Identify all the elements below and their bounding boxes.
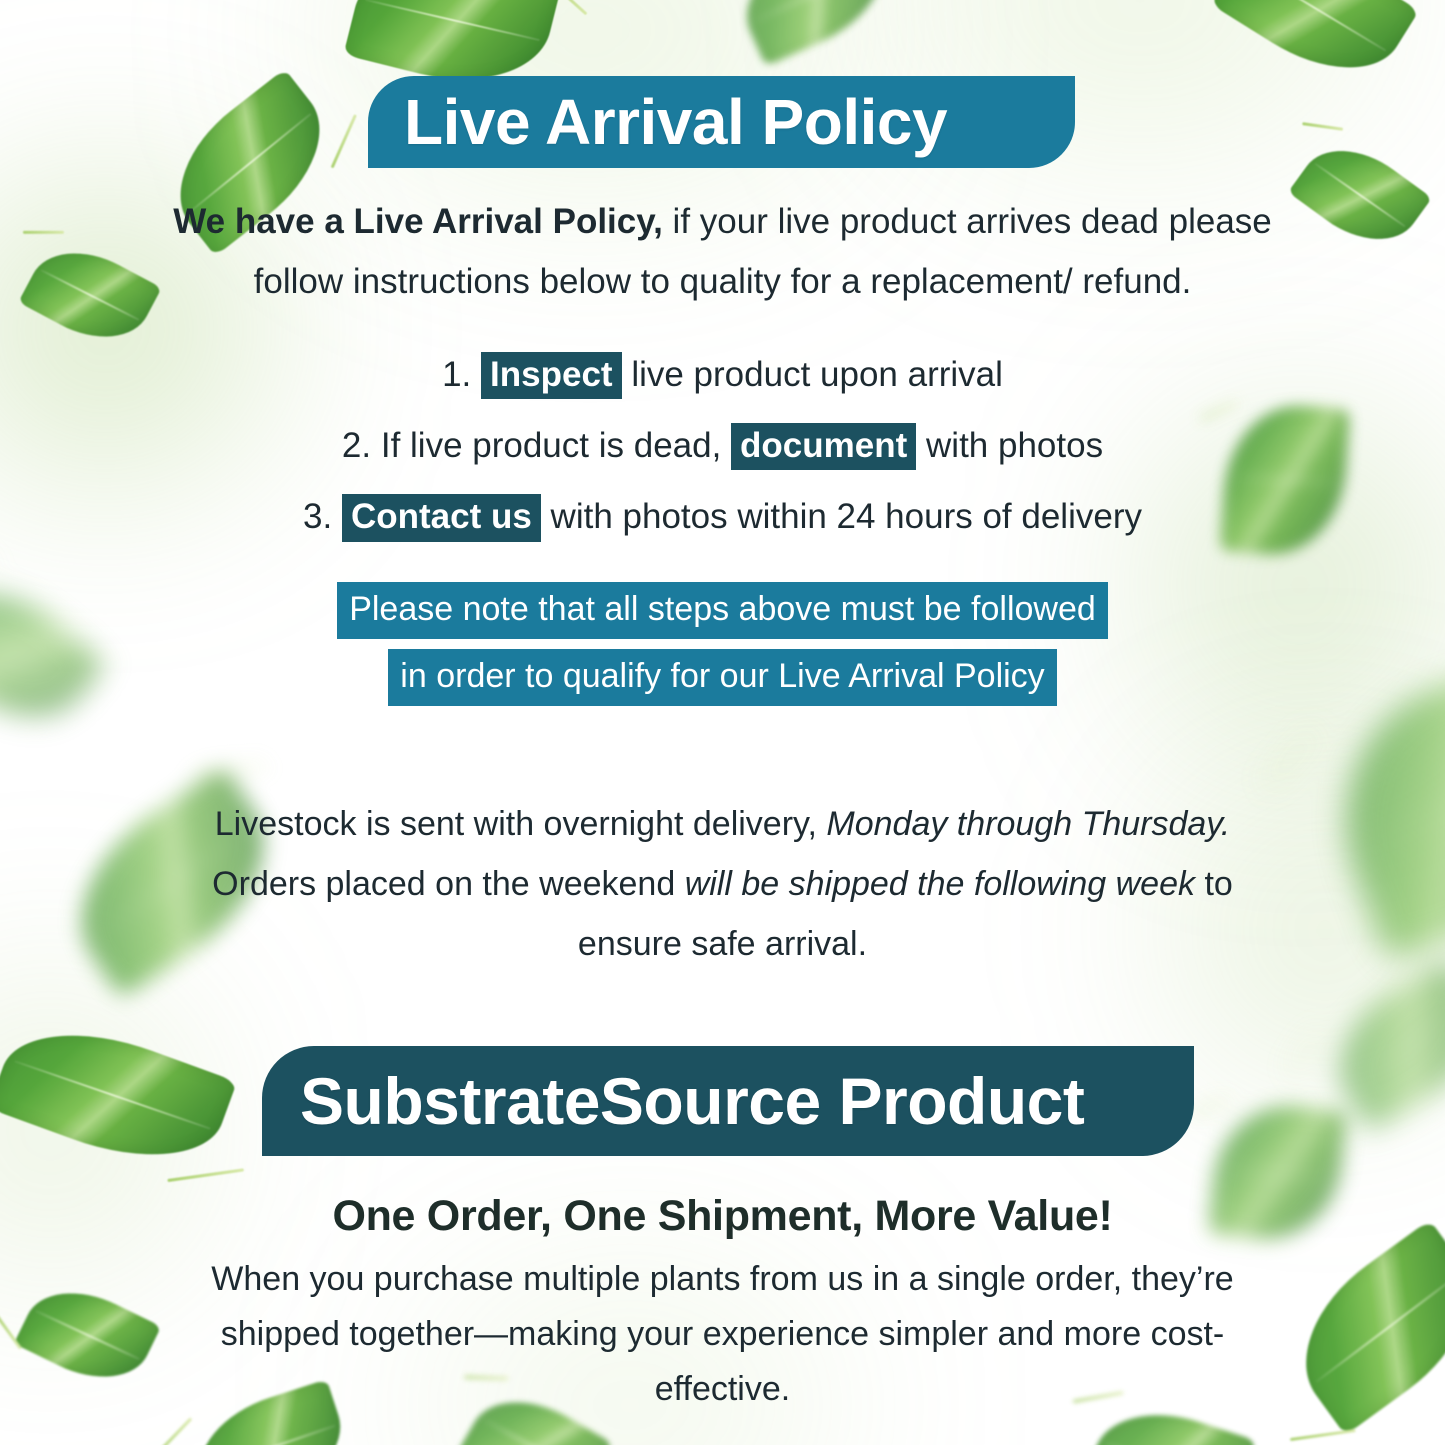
policy-steps-list: 1. Inspect live product upon arrival 2. … [190,352,1255,542]
policy-note-block: Please note that all steps above must be… [190,582,1255,706]
step-number: 1. [442,355,471,394]
step-post-text: live product upon arrival [631,355,1003,394]
policy-note-row: in order to qualify for our Live Arrival… [190,649,1255,706]
live-arrival-policy-title: Live Arrival Policy [404,85,947,159]
shipping-part-2: Orders placed on the weekend [212,865,685,903]
policy-intro-bold: We have a Live Arrival Policy, [173,202,663,241]
policy-page: Live Arrival Policy We have a Live Arriv… [0,0,1445,1445]
shipping-italic-2: will be shipped the following week [685,865,1195,903]
step-pre-text: If live product is dead, [381,426,731,465]
policy-note-line-1: Please note that all steps above must be… [337,582,1108,639]
policy-note-row: Please note that all steps above must be… [190,582,1255,639]
policy-note-line-2: in order to qualify for our Live Arrival… [388,649,1056,706]
step-post-text: with photos within 24 hours of delivery [551,497,1142,536]
substratesource-product-banner: SubstrateSource Product [262,1046,1194,1156]
product-subheading: One Order, One Shipment, More Value! [175,1192,1270,1241]
list-item: 2. If live product is dead, document wit… [190,423,1255,470]
shipping-paragraph: Livestock is sent with overnight deliver… [200,795,1245,974]
shipping-part-1: Livestock is sent with overnight deliver… [215,805,827,843]
step-highlight-document: document [731,423,916,470]
step-highlight-contact-us[interactable]: Contact us [342,494,541,541]
step-post-text: with photos [926,426,1103,465]
live-arrival-policy-banner: Live Arrival Policy [368,76,1075,168]
step-highlight-inspect: Inspect [481,352,622,399]
step-number: 3. [303,497,332,536]
policy-intro-paragraph: We have a Live Arrival Policy, if your l… [160,192,1285,312]
product-body-paragraph: When you purchase multiple plants from u… [175,1252,1270,1417]
substratesource-product-title: SubstrateSource Product [300,1063,1084,1139]
list-item: 1. Inspect live product upon arrival [190,352,1255,399]
list-item: 3. Contact us with photos within 24 hour… [190,494,1255,541]
shipping-italic-1: Monday through Thursday. [826,805,1230,843]
step-number: 2. [342,426,371,465]
